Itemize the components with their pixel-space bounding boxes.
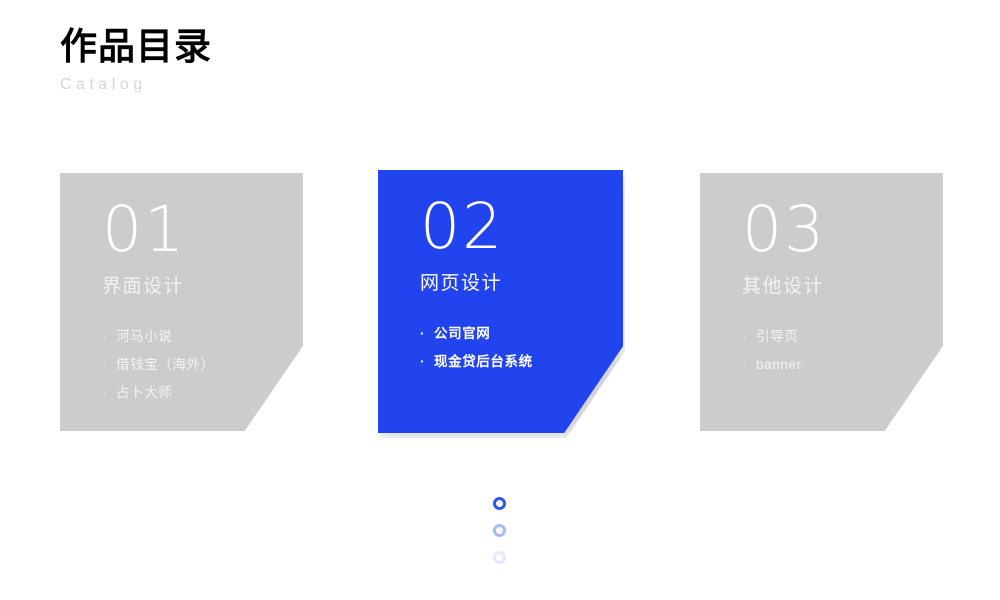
list-item-label: 借钱宝（海外） <box>116 357 215 374</box>
card-heading: 网页设计 <box>420 268 623 295</box>
list-item[interactable]: · 现金贷后台系统 <box>420 354 623 371</box>
bullet-icon: · <box>102 358 116 372</box>
bullet-icon: · <box>742 358 756 372</box>
bullet-icon: · <box>420 327 434 341</box>
bullet-icon: · <box>420 355 434 369</box>
bullet-icon: · <box>102 330 116 344</box>
list-item[interactable]: · 公司官网 <box>420 326 623 343</box>
list-item[interactable]: · 引导页 <box>742 329 943 346</box>
list-item[interactable]: · 河马小说 <box>102 329 303 346</box>
catalog-card-01[interactable]: 01 界面设计 · 河马小说 · 借钱宝（海外） · 占卜大师 <box>60 173 303 431</box>
card-item-list: · 河马小说 · 借钱宝（海外） · 占卜大师 <box>102 329 303 402</box>
list-item-label: 占卜大师 <box>116 385 172 402</box>
card-body: 01 界面设计 · 河马小说 · 借钱宝（海外） · 占卜大师 <box>60 173 303 431</box>
pagination-dot-3[interactable] <box>493 551 506 564</box>
card-body: 03 其他设计 · 引导页 · banner <box>700 173 943 431</box>
card-number: 01 <box>102 197 303 263</box>
list-item[interactable]: · 占卜大师 <box>102 385 303 402</box>
list-item-label: 河马小说 <box>116 329 172 346</box>
list-item-label: 引导页 <box>756 329 798 346</box>
card-item-list: · 公司官网 · 现金贷后台系统 <box>420 326 623 371</box>
pagination-dot-1[interactable] <box>493 497 506 510</box>
card-heading: 界面设计 <box>102 271 303 298</box>
card-item-list: · 引导页 · banner <box>742 329 943 374</box>
list-item-label: 现金贷后台系统 <box>434 354 533 371</box>
pagination-dot-2[interactable] <box>493 524 506 537</box>
bullet-icon: · <box>742 330 756 344</box>
catalog-card-02[interactable]: 02 网页设计 · 公司官网 · 现金贷后台系统 <box>378 170 623 433</box>
card-heading: 其他设计 <box>742 271 943 298</box>
list-item-label: banner <box>756 357 802 374</box>
card-body: 02 网页设计 · 公司官网 · 现金贷后台系统 <box>378 170 623 433</box>
catalog-card-03[interactable]: 03 其他设计 · 引导页 · banner <box>700 173 943 431</box>
list-item[interactable]: · banner <box>742 357 943 374</box>
list-item-label: 公司官网 <box>434 326 490 343</box>
bullet-icon: · <box>102 386 116 400</box>
card-number: 02 <box>420 194 623 260</box>
card-number: 03 <box>742 197 943 263</box>
list-item[interactable]: · 借钱宝（海外） <box>102 357 303 374</box>
slide-pagination <box>493 497 506 564</box>
